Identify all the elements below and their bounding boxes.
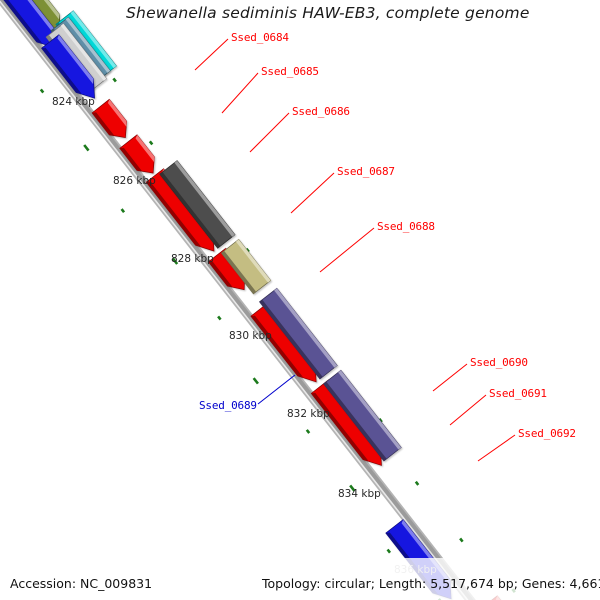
genome-map-canvas[interactable] xyxy=(0,0,600,600)
label-leader-line xyxy=(195,39,228,70)
label-leader-line xyxy=(320,228,374,272)
ruler-label: 826 kbp xyxy=(113,175,156,187)
tick-mark xyxy=(416,482,418,485)
page-title: Shewanella sediminis HAW-EB3, complete g… xyxy=(126,4,530,22)
label-leader-line xyxy=(291,173,334,213)
tick-mark xyxy=(41,89,43,92)
gene-label-ssed_0688[interactable]: Ssed_0688 xyxy=(377,220,435,233)
tick-mark xyxy=(150,141,152,144)
genome-map-viewer: Shewanella sediminis HAW-EB3, complete g… xyxy=(0,0,600,600)
gene-red-2[interactable] xyxy=(120,135,155,173)
tick-mark xyxy=(113,78,115,81)
gene-label-ssed_0692[interactable]: Ssed_0692 xyxy=(518,427,576,440)
gene-feature-layer[interactable] xyxy=(0,0,600,600)
gene-label-ssed_0690[interactable]: Ssed_0690 xyxy=(470,356,528,369)
label-leader-line xyxy=(250,113,289,152)
ruler-label: 824 kbp xyxy=(52,96,95,108)
tick-mark xyxy=(84,145,88,151)
gene-label-ssed_0687[interactable]: Ssed_0687 xyxy=(337,165,395,178)
gene-red-1[interactable] xyxy=(92,99,127,137)
gene-label-ssed_0689[interactable]: Ssed_0689 xyxy=(199,399,257,412)
label-leader-line xyxy=(450,395,486,425)
ruler-label: 832 kbp xyxy=(287,408,330,420)
genome-summary-text: Topology: circular; Length: 5,517,674 bp… xyxy=(262,576,600,591)
tick-mark xyxy=(122,209,124,212)
gene-label-ssed_0686[interactable]: Ssed_0686 xyxy=(292,105,350,118)
gene-label-ssed_0685[interactable]: Ssed_0685 xyxy=(261,65,319,78)
ruler-label: 828 kbp xyxy=(171,253,214,265)
tick-mark xyxy=(254,378,258,384)
tick-mark xyxy=(218,316,220,319)
label-leader-line xyxy=(478,435,515,461)
tick-mark xyxy=(307,430,309,433)
tick-mark xyxy=(460,538,462,541)
label-leader-line xyxy=(258,375,295,404)
gene-label-ssed_0684[interactable]: Ssed_0684 xyxy=(231,31,289,44)
ruler-label: 830 kbp xyxy=(229,330,272,342)
gene-label-ssed_0691[interactable]: Ssed_0691 xyxy=(489,387,547,400)
label-leader-line xyxy=(222,73,258,113)
ruler-label: 834 kbp xyxy=(338,488,381,500)
label-leader-line xyxy=(433,364,467,391)
accession-text: Accession: NC_009831 xyxy=(10,576,152,591)
tick-mark xyxy=(388,550,390,553)
